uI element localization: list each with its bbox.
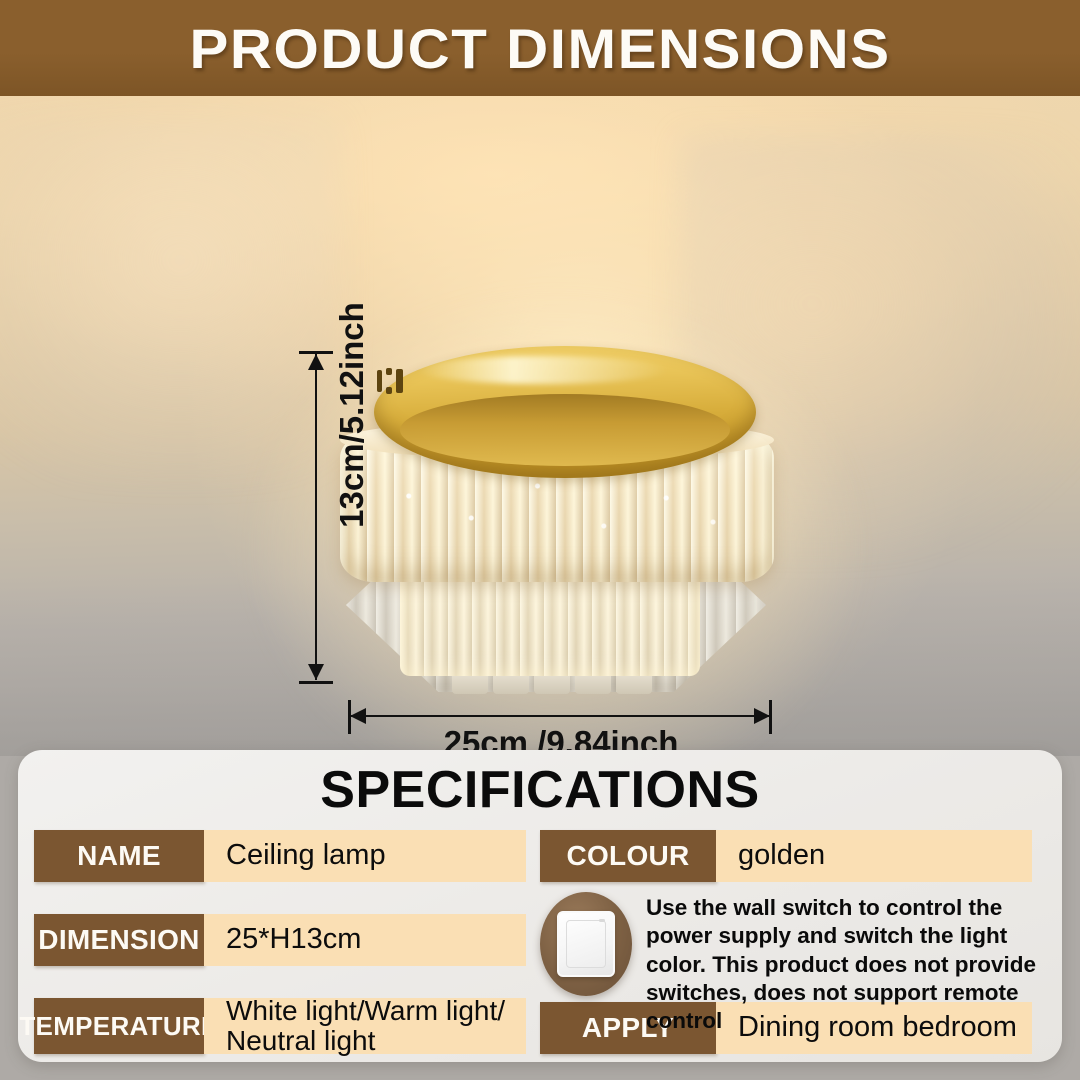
spec-label-dimension: DIMENSION	[34, 914, 204, 966]
height-arrow-down-icon	[308, 664, 324, 680]
wall-switch-note-text: Use the wall switch to control the power…	[646, 892, 1050, 1036]
ceiling-lamp-illustration	[322, 346, 792, 696]
lamp-bottom-tabs	[452, 676, 652, 694]
spec-value-colour: golden	[716, 830, 1032, 882]
spec-value-temperature: White light/Warm light/ Neutral light	[204, 998, 526, 1054]
specifications-title: SPECIFICATIONS	[314, 760, 765, 820]
product-photo: 13cm/5.12inch 25cm /9.84inch	[0, 96, 1080, 756]
spec-value-dimension: 25*H13cm	[204, 914, 526, 966]
lamp-vent-icon	[377, 368, 417, 394]
spec-value-name: Ceiling lamp	[204, 830, 526, 882]
lamp-gold-highlight	[418, 356, 668, 384]
height-tick-bottom	[299, 681, 333, 684]
width-arrow-left-icon	[350, 708, 366, 724]
spec-label-temperature: TEMPERATURE	[34, 998, 204, 1054]
switch-rocker	[566, 920, 606, 968]
specifications-card: SPECIFICATIONS NAME Ceiling lamp DIMENSI…	[18, 750, 1062, 1062]
wall-switch-icon	[540, 892, 632, 996]
specifications-title-wrap: SPECIFICATIONS	[18, 760, 1062, 828]
lamp-gold-inner-shade	[400, 394, 730, 466]
spec-row-colour: COLOUR golden	[540, 830, 1032, 882]
spec-rows: NAME Ceiling lamp DIMENSION 25*H13cm TEM…	[18, 830, 1062, 1060]
product-dimensions-infographic: PRODUCT DIMENSIONS	[0, 0, 1080, 1080]
height-dimension-label: 13cm/5.12inch	[333, 295, 371, 535]
switch-plate	[557, 911, 615, 977]
spec-label-name: NAME	[34, 830, 204, 882]
spec-row-dimension: DIMENSION 25*H13cm	[34, 914, 526, 966]
spec-label-colour: COLOUR	[540, 830, 716, 882]
height-arrow-up-icon	[308, 354, 324, 370]
page-title: PRODUCT DIMENSIONS	[189, 16, 890, 81]
switch-indicator-dot	[599, 919, 605, 922]
spec-row-name: NAME Ceiling lamp	[34, 830, 526, 882]
header-bar: PRODUCT DIMENSIONS	[0, 0, 1080, 96]
width-arrow-right-icon	[754, 708, 770, 724]
width-line	[350, 715, 770, 717]
spec-row-temperature: TEMPERATURE White light/Warm light/ Neut…	[34, 998, 526, 1054]
height-dimension-arrow	[305, 346, 327, 688]
wall-switch-note: Use the wall switch to control the power…	[540, 892, 1050, 992]
height-line	[315, 354, 317, 680]
